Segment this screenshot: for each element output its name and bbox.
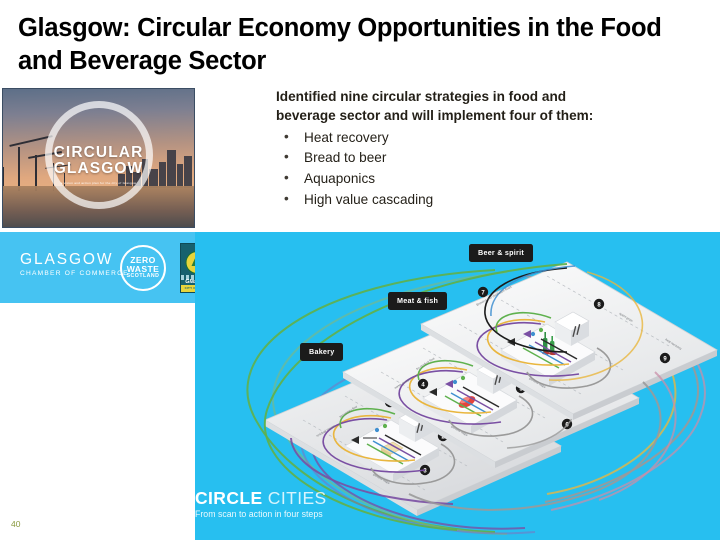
layer-label-beer-spirit: Beer & spirit: [469, 244, 533, 262]
cover-subtitle: a vision and action plan for the city of…: [3, 181, 194, 185]
page-number: 40: [11, 519, 20, 529]
list-item: •Aquaponics: [276, 169, 696, 190]
bullet-text-block: Identified nine circular strategies in f…: [276, 87, 696, 210]
list-item: •High value cascading: [276, 190, 696, 211]
glasgow-chamber-of-commerce-logo: GLASGOW CHAMBER OF COMMERCE: [20, 252, 129, 277]
lead-paragraph: Identified nine circular strategies in f…: [276, 87, 696, 126]
circle-cities-branding: CIRCLE CITIES From scan to action in fou…: [195, 490, 327, 518]
zero-waste-scotland-logo: ZERO WASTE SCOTLAND: [120, 245, 166, 291]
bullet-marker-icon: •: [284, 189, 289, 210]
zws-line-3: SCOTLAND: [122, 274, 164, 280]
cover-title-line-2: GLASGOW: [3, 161, 194, 177]
bullet-marker-icon: •: [284, 147, 289, 168]
layer-label-bakery: Bakery: [300, 343, 343, 361]
cover-title-line-1: CIRCULAR: [3, 145, 194, 161]
lead-line-1: Identified nine circular strategies in f…: [276, 87, 696, 106]
circular-glasgow-cover-image: CIRCULAR GLASGOW a vision and action pla…: [2, 88, 195, 228]
bullet-marker-icon: •: [284, 168, 289, 189]
bullet-label: High value cascading: [304, 192, 433, 207]
lead-line-2: beverage sector and will implement four …: [276, 106, 696, 125]
brand-light: CITIES: [263, 488, 327, 508]
bullet-list: •Heat recovery •Bread to beer •Aquaponic…: [276, 128, 696, 211]
slide-canvas: Glasgow: Circular Economy Opportunities …: [0, 0, 720, 540]
circle-cities-wordmark: CIRCLE CITIES: [195, 490, 327, 508]
circle-cities-isometric-diagram: process steps 1 2 3 se: [195, 232, 720, 540]
gcc-line-2: CHAMBER OF COMMERCE: [20, 271, 129, 278]
layer-label-meat-fish: Meat & fish: [388, 292, 447, 310]
cover-title: CIRCULAR GLASGOW: [3, 145, 194, 177]
bullet-label: Heat recovery: [304, 130, 389, 145]
bullet-label: Aquaponics: [304, 171, 375, 186]
page-title: Glasgow: Circular Economy Opportunities …: [18, 12, 708, 77]
brand-bold: CIRCLE: [195, 488, 263, 508]
bullet-marker-icon: •: [284, 127, 289, 148]
gcc-line-1: GLASGOW: [20, 252, 129, 268]
list-item: •Bread to beer: [276, 148, 696, 169]
circle-cities-tagline: From scan to action in four steps: [195, 510, 327, 519]
list-item: •Heat recovery: [276, 128, 696, 149]
bullet-label: Bread to beer: [304, 150, 386, 165]
